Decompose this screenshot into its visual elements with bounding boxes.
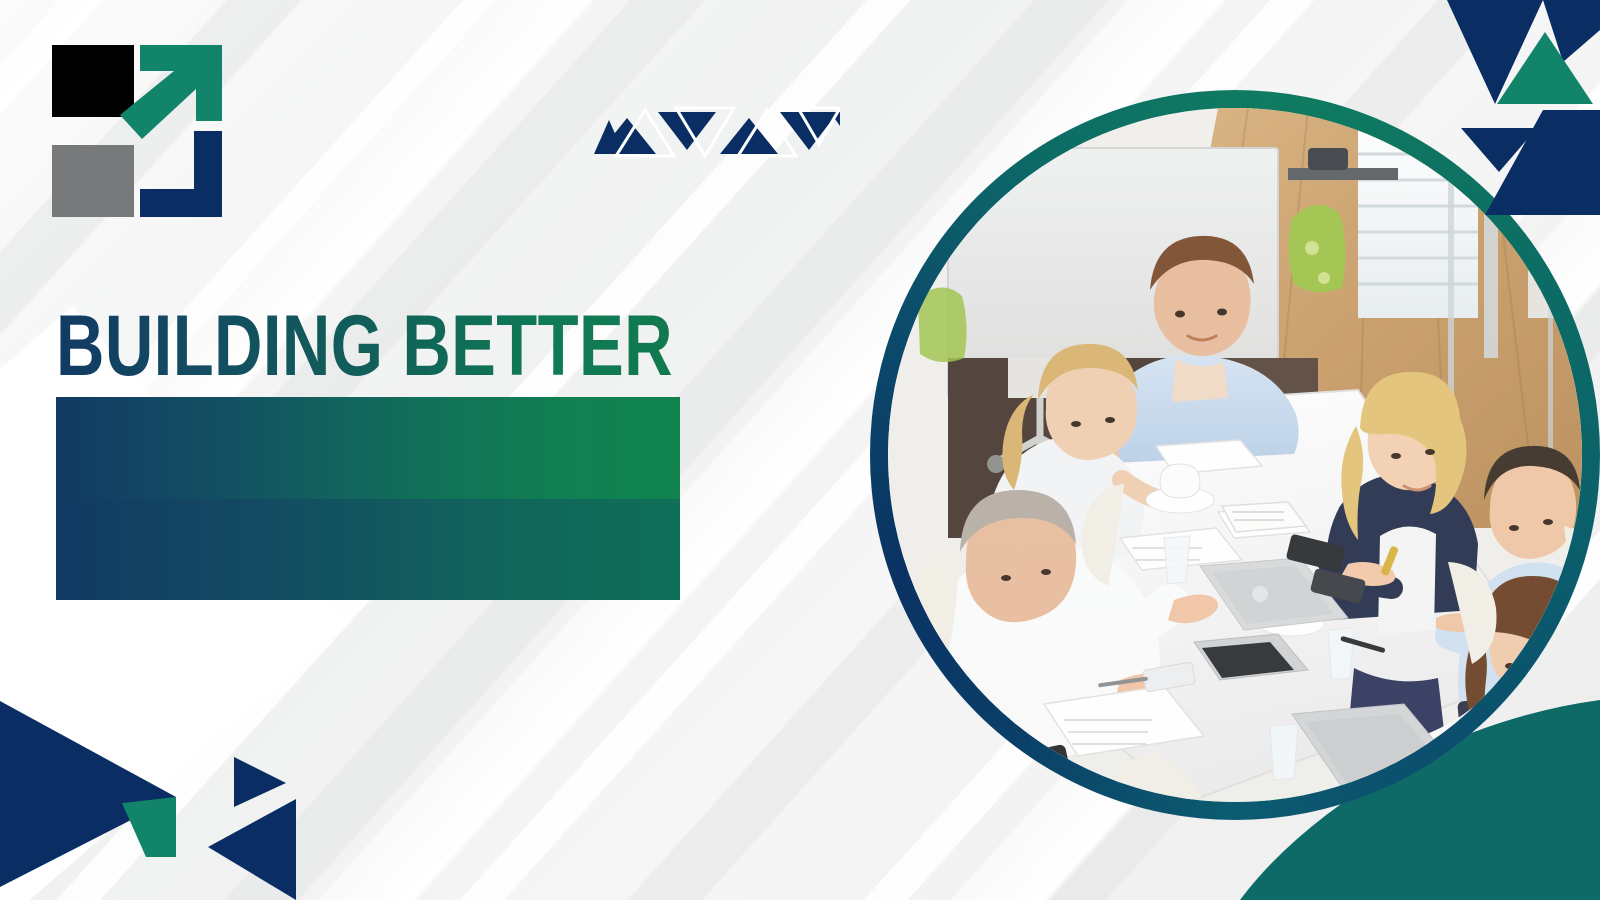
corner-triangles-bottom-left bbox=[0, 685, 330, 900]
promotional-banner: BUILDING BETTER PIPELINES FOR CONSISTENT… bbox=[0, 0, 1600, 900]
headline-line-3: VENTURE RETURNS bbox=[56, 499, 680, 600]
logo-bracket-top-left-stem-icon bbox=[52, 45, 80, 117]
logo-arrow-up-right-icon bbox=[114, 45, 222, 139]
headline-line-1: BUILDING BETTER bbox=[56, 296, 680, 397]
page-title: BUILDING BETTER PIPELINES FOR CONSISTENT… bbox=[56, 296, 856, 600]
business-meeting-photo bbox=[888, 108, 1582, 802]
logo-bracket-bottom-left-stem-icon bbox=[52, 145, 80, 217]
logo-bracket-bottom-right-stem-icon bbox=[194, 131, 222, 217]
photo-circle bbox=[870, 90, 1600, 820]
headline-line-2: PIPELINES FOR CONSISTENT bbox=[56, 397, 680, 498]
triangle-pattern-strip bbox=[594, 104, 840, 160]
bracket-arrow-logo[interactable] bbox=[52, 45, 222, 217]
